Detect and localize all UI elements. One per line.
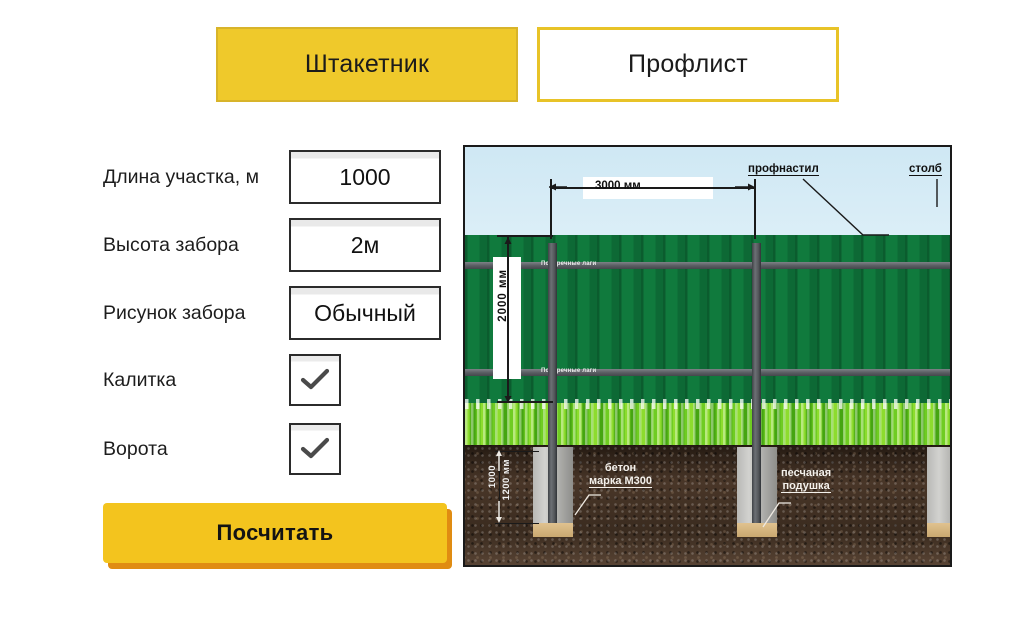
label-pattern: Рисунок забора <box>103 302 245 325</box>
anno-stolb: столб <box>909 163 942 176</box>
label-gate: Ворота <box>103 438 168 461</box>
fence-diagram: Поперечные лаги Поперечные лаги 3000 мм … <box>463 145 952 567</box>
diagram-sand-bed-1 <box>533 523 573 537</box>
dim-span-label: 3000 мм <box>595 180 641 192</box>
dim-arrow-right-icon <box>735 181 759 195</box>
diagram-rail-bottom-label: Поперечные лаги <box>465 368 950 374</box>
input-height-value: 2м <box>351 232 380 259</box>
diagram-post-2 <box>752 243 761 523</box>
anno-sand: песчаная подушка <box>781 467 831 493</box>
diagram-rail-top-label: Поперечные лаги <box>465 261 950 267</box>
checkmark-icon <box>300 368 330 392</box>
diagram-sand-bed-3 <box>927 523 952 537</box>
calculate-button[interactable]: Посчитать <box>103 503 447 563</box>
field-wrap-length: 1000 <box>289 150 441 204</box>
label-height: Высота забора <box>103 234 239 257</box>
input-height[interactable]: 2м <box>289 218 441 272</box>
form-row-length: Длина участка, м <box>103 150 259 204</box>
tab-shtaketnik[interactable]: Штакетник <box>216 27 518 102</box>
dim-arrow-depth-down-icon <box>493 501 506 525</box>
tab-proflist[interactable]: Профлист <box>537 27 839 102</box>
label-wicket: Калитка <box>103 369 176 392</box>
dim-height-label: 2000 мм <box>497 269 509 322</box>
input-length-value: 1000 <box>339 164 390 191</box>
anno-profnastil: профнастил <box>748 163 819 176</box>
tab-shtaketnik-label: Штакетник <box>305 50 429 79</box>
anno-sand-line1: песчаная <box>781 467 831 479</box>
label-length: Длина участка, м <box>103 166 259 189</box>
dim-line-span <box>550 187 754 189</box>
checkbox-wicket[interactable] <box>289 354 341 406</box>
anno-sand-line2: подушка <box>782 480 829 492</box>
diagram-grass <box>465 403 950 447</box>
field-wrap-gate <box>289 423 341 475</box>
dim-arrow-up-icon <box>501 235 515 261</box>
tab-proflist-label: Профлист <box>628 50 748 79</box>
leader-line-profnastil <box>801 177 891 245</box>
form-row-wicket: Калитка <box>103 353 176 407</box>
field-wrap-wicket <box>289 354 341 406</box>
input-length[interactable]: 1000 <box>289 150 441 204</box>
field-wrap-height: 2м <box>289 218 441 272</box>
anno-concrete-line2: марка М300 <box>589 475 652 487</box>
checkmark-icon <box>300 437 330 461</box>
form-row-height: Высота забора <box>103 218 239 272</box>
tab-bar: Штакетник Профлист <box>216 27 839 102</box>
anno-concrete-line1: бетон <box>605 462 636 474</box>
leader-line-concrete <box>573 491 603 517</box>
checkbox-gate[interactable] <box>289 423 341 475</box>
anno-concrete: бетон марка М300 <box>589 462 652 488</box>
diagram-footing-3 <box>927 447 952 523</box>
dim-arrow-down-icon <box>501 379 515 405</box>
input-pattern[interactable]: Обычный <box>289 286 441 340</box>
form-row-gate: Ворота <box>103 422 168 476</box>
form-row-pattern: Рисунок забора <box>103 286 245 340</box>
input-pattern-value: Обычный <box>314 300 416 327</box>
diagram-post-1 <box>548 243 557 523</box>
leader-line-stolb <box>931 177 952 223</box>
dim-arrow-depth-up-icon <box>493 449 506 473</box>
field-wrap-pattern: Обычный <box>289 286 441 340</box>
leader-line-sand <box>761 497 793 529</box>
dim-arrow-left-icon <box>545 181 569 195</box>
